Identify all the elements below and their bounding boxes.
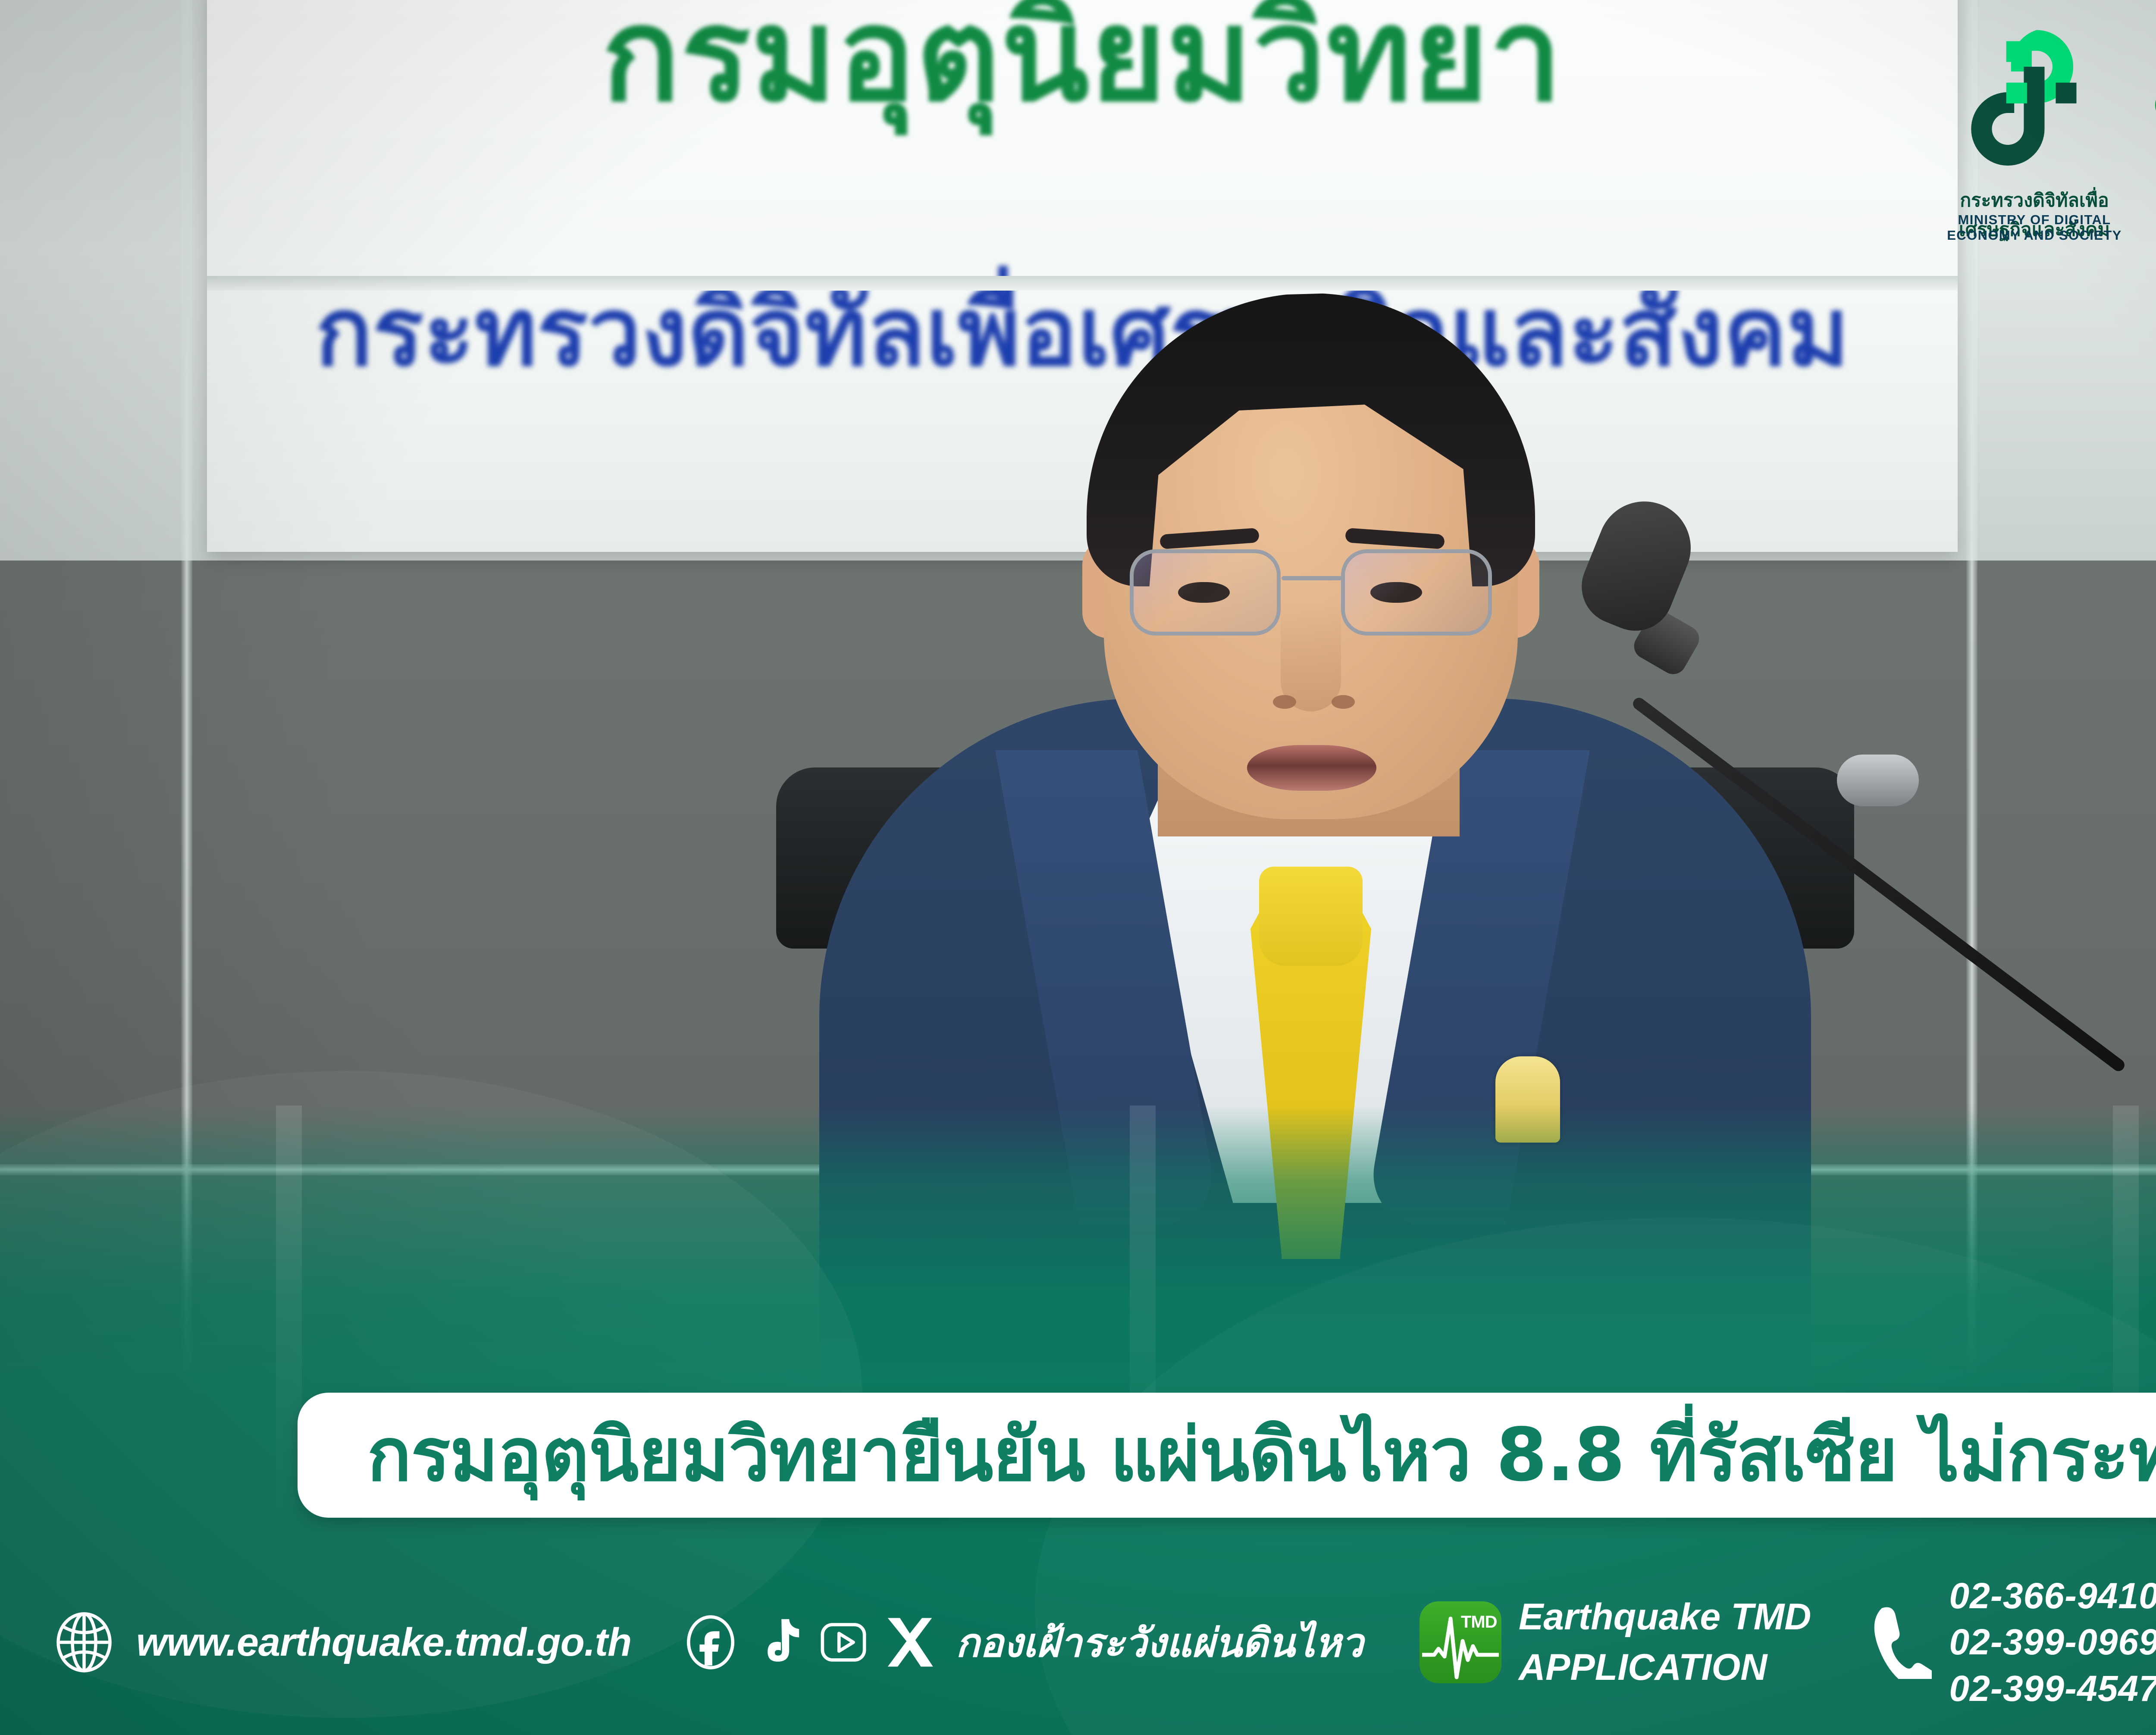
earthquake-tmd-app-icon[interactable]: TMD xyxy=(1420,1601,1501,1683)
social-group: กองเฝ้าระวังแผ่นดินไหว xyxy=(683,1611,1363,1674)
website-url[interactable]: www.earthquake.tmd.go.th xyxy=(136,1620,631,1665)
app-name-line2: APPLICATION xyxy=(1519,1646,1811,1689)
youtube-icon[interactable] xyxy=(816,1615,871,1670)
poster-canvas: กรมอุตุนิยมวิทยา กระทรวงดิจิทัลเพื่อเศรษ… xyxy=(0,0,2156,1735)
headline-text: กรมอุตุนิยมวิทยายืนยัน แผ่นดินไหว 8.8 ที… xyxy=(367,1414,2156,1496)
facebook-icon[interactable] xyxy=(683,1615,738,1670)
phone-number[interactable]: 02-399-0969 xyxy=(1949,1619,2156,1666)
x-twitter-icon[interactable] xyxy=(882,1615,937,1670)
phone-number[interactable]: 02-366-9410 xyxy=(1949,1573,2156,1619)
globe-icon xyxy=(52,1610,116,1675)
tiktok-icon[interactable] xyxy=(749,1615,805,1670)
website-group[interactable]: www.earthquake.tmd.go.th xyxy=(52,1610,631,1675)
phone-icon xyxy=(1867,1606,1932,1679)
app-group[interactable]: TMD Earthquake TMD APPLICATION xyxy=(1420,1596,1811,1689)
phone-number[interactable]: 02-399-4547 xyxy=(1949,1666,2156,1712)
phone-group[interactable]: 02-366-9410 02-399-0969 02-399-4547 xyxy=(1867,1573,2156,1712)
app-icon-label: TMD xyxy=(1461,1613,1497,1632)
phone-number-list: 02-366-9410 02-399-0969 02-399-4547 xyxy=(1949,1573,2156,1712)
social-label: กองเฝ้าระวังแผ่นดินไหว xyxy=(956,1611,1363,1674)
app-name-line1: Earthquake TMD xyxy=(1519,1596,1811,1638)
app-text: Earthquake TMD APPLICATION xyxy=(1519,1596,1811,1689)
footer-bar: www.earthquake.tmd.go.th กองเฝ้าระวังแผ่… xyxy=(0,1550,2156,1735)
headline-banner: กรมอุตุนิยมวิทยายืนยัน แผ่นดินไหว 8.8 ที… xyxy=(298,1393,2156,1518)
